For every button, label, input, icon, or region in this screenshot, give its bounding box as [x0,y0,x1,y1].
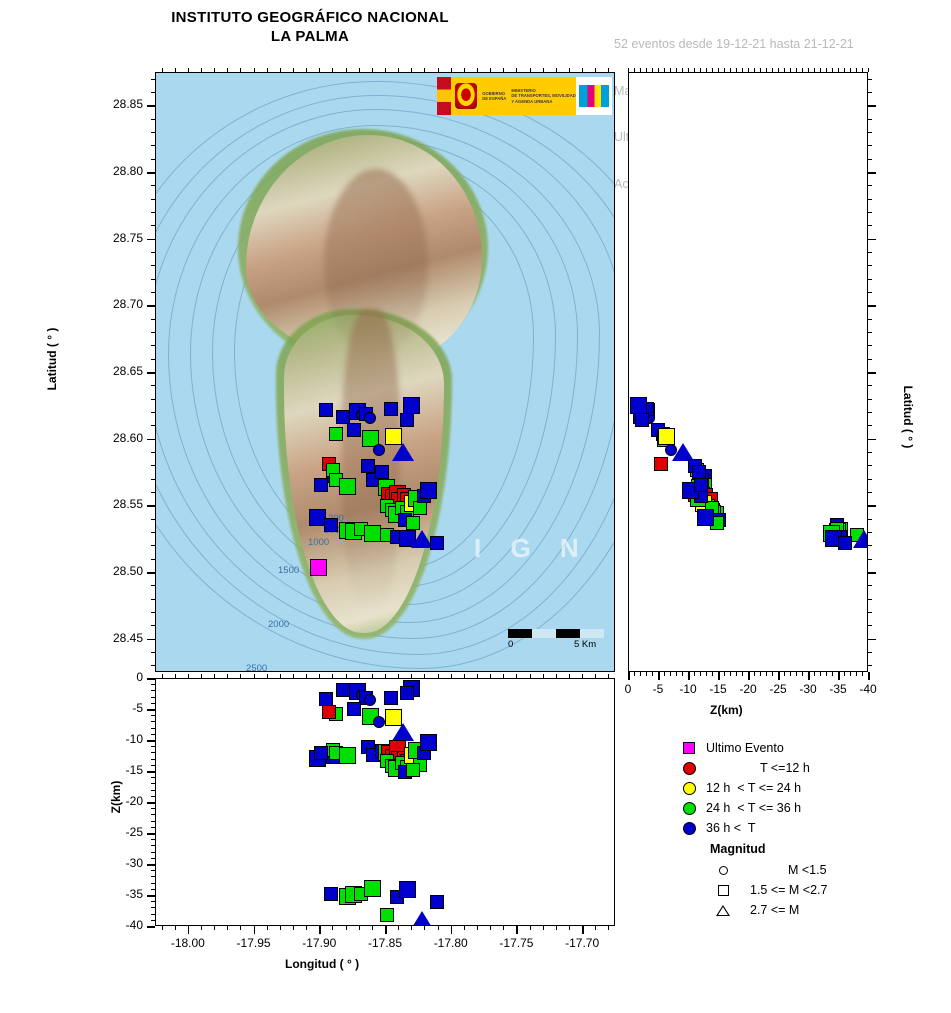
axis-tick [838,68,839,72]
axis-tick [319,674,320,678]
axis-tick [868,305,872,306]
axis-tick [796,68,797,72]
depth-axis-title-left: Z(km) [109,757,123,837]
axis-tick [385,674,386,678]
axis-tick [682,68,683,72]
axis-tick [151,783,155,784]
axis-tick [856,68,857,72]
axis-tick [868,599,872,600]
axis-tick [778,672,779,676]
axis-tick [151,185,155,186]
contour-label-1000: 1000 [308,537,329,548]
event-marker [364,880,381,897]
axis-tick [868,185,872,186]
axis-tick [868,639,872,640]
axis-tick [700,672,701,676]
axis-tick-label: -40 [91,918,143,932]
ign-logo-mark [579,85,609,107]
axis-tick [796,672,797,676]
axis-tick [569,926,570,930]
axis-tick [670,68,671,72]
axis-tick [748,68,749,72]
axis-tick [646,68,647,72]
axis-tick [868,452,872,453]
axis-tick [676,68,677,72]
axis-tick [151,452,155,453]
ign-watermark: I G N [474,533,590,564]
event-marker [324,518,338,532]
axis-tick [556,926,557,930]
axis-tick [151,612,155,613]
axis-tick [151,199,155,200]
axis-tick-label: 28.70 [91,297,143,311]
axis-tick [868,572,872,573]
axis-tick [543,926,544,930]
axis-tick-label: -35 [91,887,143,901]
axis-tick [151,870,155,871]
axis-tick [543,68,544,72]
axis-tick [556,674,557,678]
event-marker [336,683,350,697]
event-marker [697,509,714,526]
axis-tick [772,68,773,72]
axis-tick [595,926,596,930]
axis-tick [151,703,155,704]
axis-tick [201,926,202,930]
axis-tick-label: -40 [838,682,898,696]
axis-tick-label: 0 [91,670,143,684]
axis-tick [868,439,872,440]
axis-tick [151,790,155,791]
axis-tick [151,519,155,520]
axis-tick [151,833,155,834]
event-marker [322,705,336,719]
legend-magnitude-item: 1.5 <= M <2.7 [676,880,946,900]
axis-tick [868,212,872,213]
axis-tick [267,68,268,72]
legend-symbol-square [710,885,736,896]
ign-logo [576,77,612,115]
event-marker [324,887,338,901]
axis-tick [464,674,465,678]
axis-tick [398,674,399,678]
axis-tick [754,672,755,676]
axis-tick [742,68,743,72]
axis-tick [826,68,827,72]
axis-tick [240,68,241,72]
axis-tick [868,672,869,676]
axis-tick [826,672,827,676]
island-raster: 200 500 1000 1500 2000 2500 [156,73,614,671]
axis-tick [451,674,452,678]
axis-tick [868,665,872,666]
axis-tick [772,672,773,676]
axis-tick [151,920,155,921]
axis-tick [676,672,677,676]
logo-text-ministerio: MINISTERIO DE TRANSPORTES, MOVILIDAD Y A… [511,88,575,105]
axis-tick [151,225,155,226]
axis-tick [451,926,452,930]
axis-tick [464,926,465,930]
axis-tick [151,827,155,828]
legend-item-label: Ultimo Evento [702,741,784,755]
event-marker [411,911,433,926]
legend-item: Ultimo Evento [676,738,946,758]
axis-tick [582,68,583,72]
axis-tick [808,672,809,676]
axis-tick [868,105,872,106]
axis-tick [359,926,360,930]
axis-tick [306,674,307,678]
legend-swatch [683,822,696,835]
axis-tick [306,926,307,930]
axis-tick-label: -18.00 [158,936,218,950]
axis-tick [214,674,215,678]
axis-tick [700,68,701,72]
axis-tick [664,68,665,72]
axis-tick [372,68,373,72]
axis-tick [569,674,570,678]
axis-tick [151,852,155,853]
axis-tick [214,926,215,930]
axis-tick [868,119,872,120]
axis-tick [868,559,872,560]
axis-tick [151,858,155,859]
axis-tick [844,672,845,676]
axis-tick [151,796,155,797]
event-marker [375,465,389,479]
legend-symbol-circle [676,822,702,835]
axis-tick [151,599,155,600]
event-marker [319,403,333,417]
axis-tick [151,839,155,840]
axis-tick [868,68,869,72]
latitude-axis-title: Latitud ( ° ) [45,299,59,419]
event-marker [361,459,375,473]
axis-tick [201,674,202,678]
axis-tick [151,678,155,679]
axis-tick-label: 28.55 [91,497,143,511]
title-line-1: INSTITUTO GEOGRÁFICO NACIONAL [0,8,620,27]
axis-tick [254,926,255,930]
event-marker [319,692,333,706]
axis-tick [724,68,725,72]
axis-tick [784,672,785,676]
axis-tick [868,265,872,266]
event-marker [364,694,376,706]
contour-label-2500: 2500 [246,663,267,672]
axis-tick [438,926,439,930]
axis-tick [267,926,268,930]
axis-tick [293,674,294,678]
legend-item: 36 h < T [676,818,946,838]
axis-tick [162,926,163,930]
axis-tick [151,399,155,400]
axis-tick [151,697,155,698]
axis-tick [151,505,155,506]
legend-magnitude-items: M <1.51.5 <= M <2.72.7 <= M [676,860,946,920]
axis-tick-label: 28.50 [91,564,143,578]
axis-tick [151,172,155,173]
axis-tick [151,771,155,772]
axis-tick [736,672,737,676]
event-marker [400,413,414,427]
axis-tick [151,883,155,884]
map-panel[interactable]: 200 500 1000 1500 2000 2500 I G N GOBIER… [155,72,615,672]
axis-tick [868,225,872,226]
axis-tick [151,292,155,293]
event-marker [384,691,398,705]
spain-flag-icon [437,77,451,115]
axis-tick [658,68,659,72]
legend-swatch [683,762,696,775]
event-marker [310,559,327,576]
axis-tick [227,926,228,930]
axis-tick [790,68,791,72]
axis-tick [628,68,629,72]
axis-tick [868,385,872,386]
axis-tick [254,674,255,678]
axis-tick [820,672,821,676]
axis-tick [790,672,791,676]
axis-tick [760,68,761,72]
axis-tick [868,145,872,146]
axis-tick [151,889,155,890]
axis-tick-label: -17.85 [355,936,415,950]
axis-tick [868,652,872,653]
axis-tick [151,625,155,626]
page-title: INSTITUTO GEOGRÁFICO NACIONAL LA PALMA [0,8,620,46]
axis-tick [652,68,653,72]
axis-tick [359,674,360,678]
axis-tick [398,68,399,72]
axis-tick [628,672,629,676]
axis-tick [151,439,155,440]
axis-tick [151,319,155,320]
institutional-logo-band: GOBIERNO DE ESPAÑA MINISTERIO DE TRANSPO… [437,77,612,115]
scale-bar-label-right: 5 Km [574,639,596,650]
latitude-depth-panel[interactable] [628,72,868,672]
axis-tick [359,68,360,72]
axis-tick-label: 28.65 [91,364,143,378]
axis-tick [151,765,155,766]
axis-tick [175,926,176,930]
axis-tick [868,479,872,480]
axis-tick [151,740,155,741]
axis-tick-label: 28.45 [91,631,143,645]
axis-tick [151,585,155,586]
axis-tick [151,252,155,253]
axis-tick [411,68,412,72]
axis-tick-label: -17.70 [552,936,612,950]
event-marker [339,478,356,495]
axis-tick [608,674,609,678]
legend-magnitude-label: M <1.5 [736,863,827,877]
axis-tick [868,612,872,613]
axis-tick [151,845,155,846]
axis-tick [240,674,241,678]
axis-tick [868,492,872,493]
event-marker [314,478,328,492]
axis-tick-label: 28.85 [91,97,143,111]
axis-tick [162,674,163,678]
axis-tick [608,926,609,930]
axis-tick [151,532,155,533]
legend: Ultimo EventoT <=12 h12 h < T <= 24 h24 … [676,738,946,920]
axis-tick [151,907,155,908]
axis-tick [240,926,241,930]
axis-tick [372,674,373,678]
axis-tick [151,92,155,93]
axis-tick [151,305,155,306]
legend-magnitude-label: 2.7 <= M [736,903,799,917]
axis-tick [151,239,155,240]
axis-tick [188,68,189,72]
axis-tick [227,68,228,72]
axis-tick [802,672,803,676]
axis-tick [151,332,155,333]
legend-magnitude-item: M <1.5 [676,860,946,880]
contour-label-1500: 1500 [278,565,299,576]
axis-tick [151,876,155,877]
axis-tick [151,479,155,480]
scale-bar-label-left: 0 [508,639,513,650]
axis-tick [868,345,872,346]
axis-tick [151,814,155,815]
axis-tick [754,68,755,72]
axis-tick [730,68,731,72]
axis-tick [151,914,155,915]
axis-tick [214,68,215,72]
legend-swatch [683,742,695,754]
event-marker [380,908,394,922]
axis-tick [477,674,478,678]
axis-tick [151,159,155,160]
axis-tick [516,674,517,678]
axis-tick [868,292,872,293]
axis-tick [385,68,386,72]
axis-tick [175,68,176,72]
legend-item: 24 h < T <= 36 h [676,798,946,818]
axis-tick [868,252,872,253]
axis-tick [516,68,517,72]
axis-tick [151,265,155,266]
axis-tick [868,505,872,506]
event-marker [329,427,343,441]
legend-symbol-circle [676,782,702,795]
axis-tick [188,926,189,930]
event-marker [672,443,694,461]
axis-tick [608,68,609,72]
axis-tick [582,674,583,678]
event-marker [430,895,444,909]
axis-tick [595,68,596,72]
event-marker [339,747,356,764]
axis-tick [151,821,155,822]
axis-tick [346,674,347,678]
axis-tick [293,68,294,72]
axis-tick [151,279,155,280]
axis-tick [640,672,641,676]
axis-tick [151,728,155,729]
legend-time-items: Ultimo EventoT <=12 h12 h < T <= 24 h24 … [676,738,946,838]
legend-swatch [683,782,696,795]
event-marker [373,716,385,728]
axis-tick [634,672,635,676]
axis-tick [706,68,707,72]
axis-tick [556,68,557,72]
axis-tick [319,68,320,72]
event-marker [838,536,852,550]
event-marker [400,686,414,700]
axis-tick [516,926,517,930]
axis-tick [718,68,719,72]
axis-tick [748,672,749,676]
info-event-count: 52 eventos desde 19-12-21 hasta 21-12-21 [614,37,951,53]
legend-symbol-circle [676,802,702,815]
longitude-depth-panel[interactable] [155,678,615,926]
axis-tick [640,68,641,72]
legend-magnitude-title: Magnitud [676,838,946,860]
axis-tick [868,279,872,280]
logo-text-gobierno: GOBIERNO DE ESPAÑA [482,91,506,102]
legend-symbol-circle [710,866,736,875]
axis-tick-label: -5 [91,701,143,715]
event-marker [420,482,437,499]
axis-tick [543,674,544,678]
axis-tick-label: -30 [91,856,143,870]
legend-item: 12 h < T <= 24 h [676,778,946,798]
axis-tick [424,674,425,678]
axis-tick [424,68,425,72]
axis-tick [151,79,155,80]
axis-tick [151,385,155,386]
axis-tick-label: -10 [91,732,143,746]
axis-tick [736,68,737,72]
axis-tick [688,672,689,676]
axis-tick [372,926,373,930]
axis-tick [151,721,155,722]
coat-of-arms-icon [455,83,477,109]
event-marker [314,746,328,760]
axis-tick [490,926,491,930]
axis-tick [868,519,872,520]
legend-item-label: T <=12 h [702,761,810,775]
contour-label-2000: 2000 [268,619,289,630]
axis-tick [332,926,333,930]
axis-tick [332,674,333,678]
event-marker [420,734,437,751]
event-marker [406,516,420,530]
axis-tick [151,345,155,346]
axis-tick [346,68,347,72]
axis-tick [151,372,155,373]
axis-tick [730,672,731,676]
axis-tick [151,808,155,809]
event-marker [384,402,398,416]
axis-tick [832,672,833,676]
axis-tick [280,926,281,930]
axis-tick [151,465,155,466]
axis-tick [151,412,155,413]
axis-tick [201,68,202,72]
axis-tick [151,690,155,691]
legend-symbol-triangle [710,905,736,916]
axis-tick [868,585,872,586]
axis-tick-label: 28.75 [91,231,143,245]
axis-tick [151,145,155,146]
axis-tick-label: -17.90 [289,936,349,950]
